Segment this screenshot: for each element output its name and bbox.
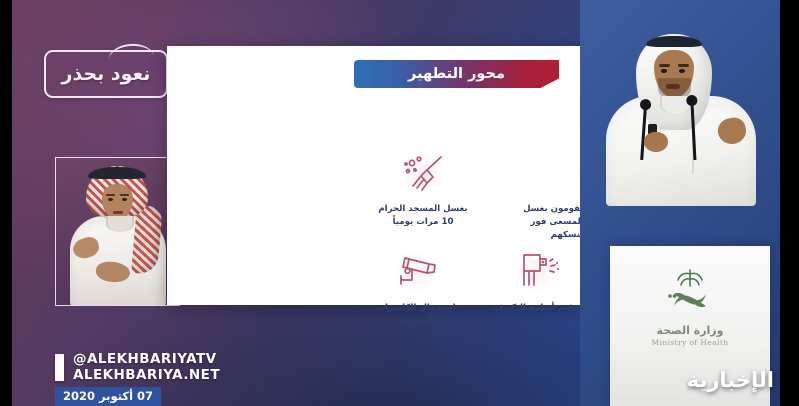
- thermal-camera-icon: [388, 249, 444, 295]
- interpreter-eye-right: [122, 198, 127, 201]
- slide-item-caption: استعمال الكاميرات الحرارية: [363, 302, 469, 328]
- interpreter-collar: [106, 216, 134, 232]
- campaign-logo-label: نعود بحذر: [62, 63, 151, 85]
- stage-right-area: وزارة الصحة Ministry of Health: [580, 0, 780, 406]
- broom-sweeping-icon: [395, 150, 451, 196]
- speaker-eye-left: [661, 69, 667, 73]
- interpreter-mouth: [113, 211, 123, 214]
- handle-row: @ALEKHBARIYATV ALEKHBARIYA.NET: [55, 352, 220, 383]
- date-badge: 07 أكتوبر 2020: [55, 387, 161, 406]
- speaker-mouth: [666, 84, 680, 89]
- campaign-logo: نعود بحذر: [44, 50, 168, 98]
- caption-line: الحرارية: [363, 315, 469, 328]
- speaker-igal: [646, 36, 702, 47]
- interpreter-igal: [88, 167, 146, 179]
- slide-item-cameras: استعمال الكاميرات الحرارية: [363, 249, 469, 328]
- os-activation-watermark: dows.: [749, 396, 770, 404]
- handle-lines: @ALEKHBARIYATV ALEKHBARIYA.NET: [73, 352, 220, 383]
- channel-watermark: الإخبارية: [687, 368, 774, 392]
- slide-item-ac: تعقيم أنظمة التكييف 9 مرات يومياً: [485, 249, 591, 328]
- channel-handle: @ALEKHBARIYATV: [73, 352, 220, 368]
- slide-item-mosque: يغسل المسجد الحرام 10 مرات يومياً: [364, 150, 482, 229]
- broadcaster-identity-block: @ALEKHBARIYATV ALEKHBARIYA.NET 07 أكتوبر…: [55, 352, 220, 406]
- caption-line: 9 مرات يومياً: [485, 315, 591, 328]
- ministry-of-health-logo: وزارة الصحة Ministry of Health: [630, 268, 750, 347]
- slide-item-caption: يغسل المسجد الحرام 10 مرات يومياً: [364, 203, 482, 229]
- speaker-hand-left: [644, 132, 668, 152]
- sign-language-interpreter-inset: [55, 157, 180, 306]
- speaker-eye-right: [679, 69, 685, 73]
- slide-card: محور التطهير: [167, 46, 580, 305]
- moh-emblem-icon: [652, 268, 728, 318]
- slide-title: محور التطهير: [408, 66, 505, 82]
- interpreter-eyebrow-right: [120, 194, 129, 196]
- interpreter-eye-left: [108, 198, 113, 201]
- speaker-eyebrow-left: [659, 64, 670, 67]
- ministry-name-en: Ministry of Health: [630, 338, 750, 347]
- swoosh-decoration: [107, 42, 154, 63]
- caption-line: يغسل المسجد الحرام: [364, 203, 482, 216]
- speaker-eyebrow-right: [678, 64, 689, 67]
- spray-disinfect-icon: [510, 249, 566, 295]
- caption-line: 10 مرات يومياً: [364, 216, 482, 229]
- ministry-name-ar: وزارة الصحة: [630, 324, 750, 337]
- handle-accent-bar: [55, 354, 64, 381]
- video-area: نعود بحذر: [12, 0, 780, 406]
- broadcast-frame: نعود بحذر: [0, 0, 799, 406]
- channel-website: ALEKHBARIYA.NET: [73, 368, 220, 384]
- interpreter-eyebrow-left: [106, 194, 115, 196]
- slide-item-caption: تعقيم أنظمة التكييف 9 مرات يومياً: [485, 302, 591, 328]
- interpreter-figure: [56, 158, 179, 305]
- caption-line: تعقيم أنظمة التكييف: [485, 302, 591, 315]
- caption-line: استعمال الكاميرات: [363, 302, 469, 315]
- slide-title-banner: محور التطهير: [354, 60, 559, 88]
